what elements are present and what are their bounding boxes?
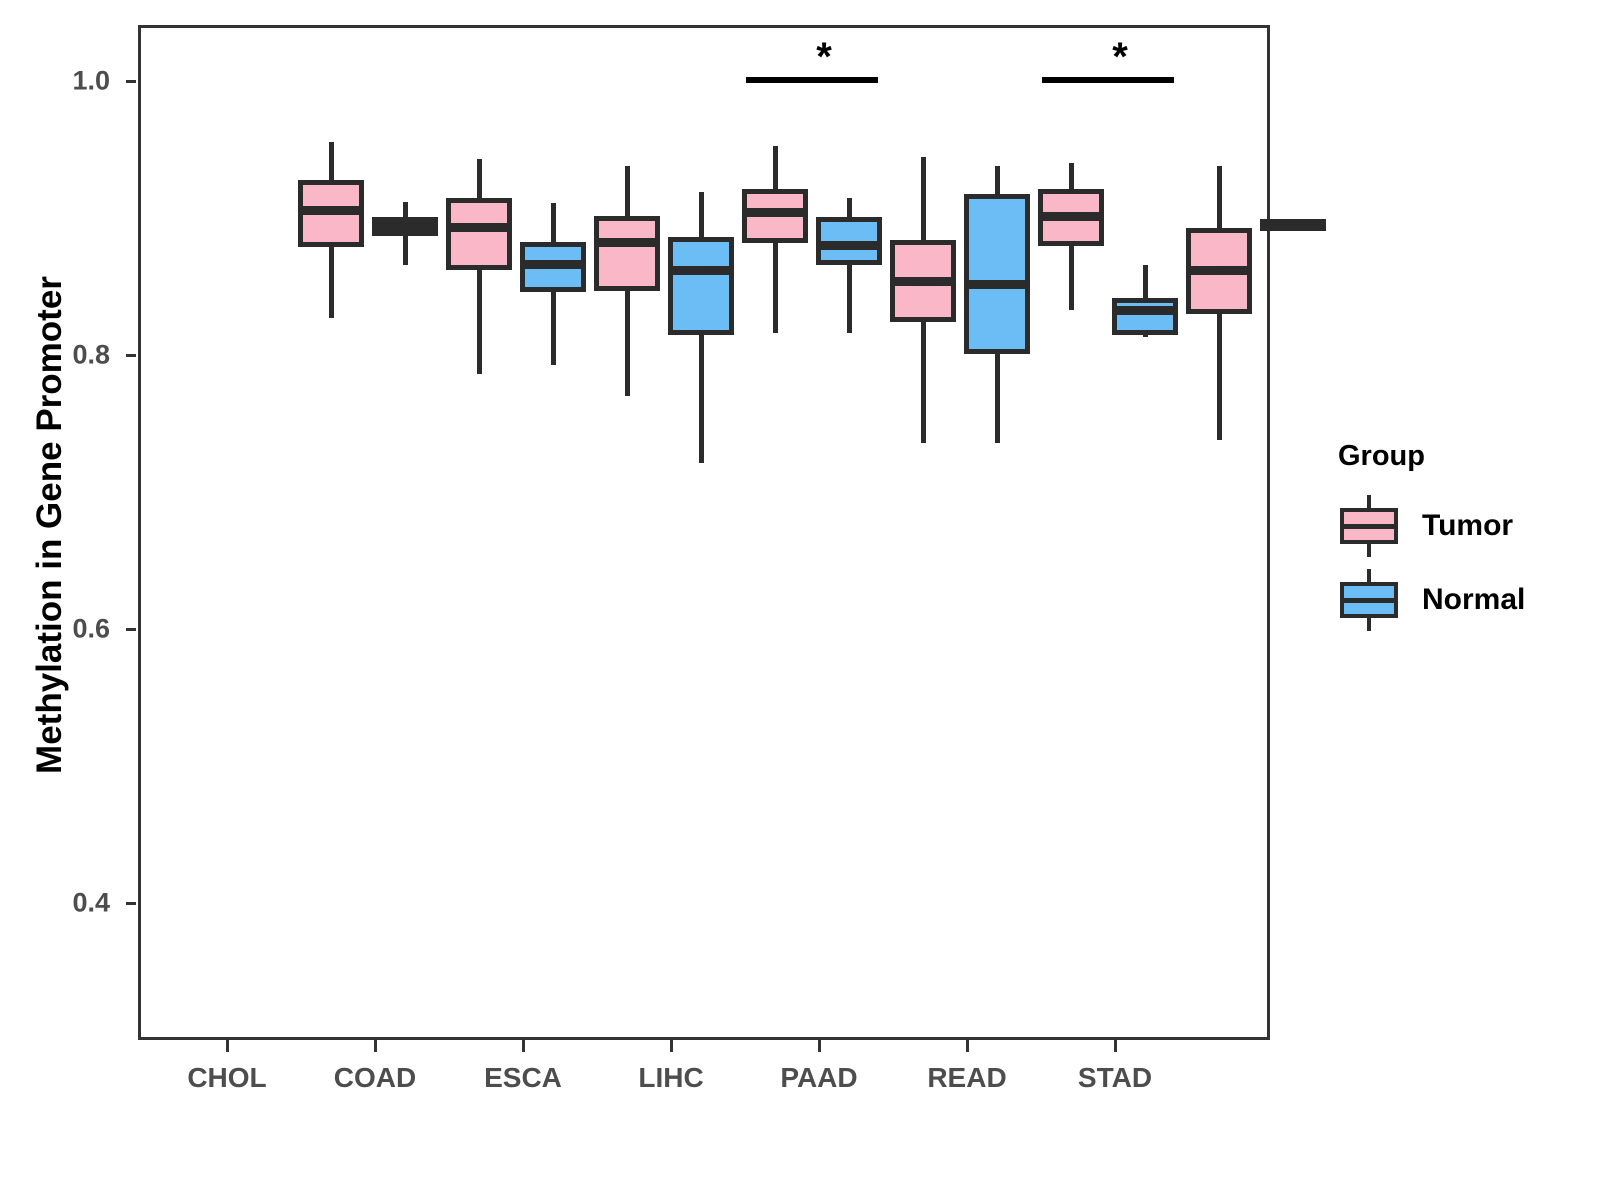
significance-bar-read (1042, 77, 1174, 83)
x-tick-label-paad: PAAD (780, 1062, 857, 1094)
boxplot-stad-normal (141, 28, 1267, 1037)
x-tick-label-stad: STAD (1078, 1062, 1152, 1094)
x-tick-mark (374, 1040, 377, 1052)
legend-key-tumor (1338, 495, 1400, 557)
x-tick-label-chol: CHOL (187, 1062, 266, 1094)
y-tick-mark (126, 354, 136, 357)
legend-whisker-top (1367, 495, 1371, 509)
legend-title: Group (1338, 440, 1580, 473)
x-tick-label-lihc: LIHC (638, 1062, 703, 1094)
significance-star-read: * (1112, 37, 1128, 77)
legend-entry-normal[interactable]: Normal (1330, 569, 1580, 631)
x-tick-mark (966, 1040, 969, 1052)
chart-root: Methylation in Gene Promoter 0.40.60.81.… (0, 0, 1600, 1200)
y-tick-mark (126, 902, 136, 905)
significance-star-lihc: * (816, 37, 832, 77)
x-tick-mark (226, 1040, 229, 1052)
legend-entries: TumorNormal (1330, 495, 1580, 631)
x-tick-label-coad: COAD (334, 1062, 416, 1094)
legend-label: Tumor (1422, 509, 1513, 543)
x-tick-label-esca: ESCA (484, 1062, 562, 1094)
y-tick-mark (126, 628, 136, 631)
y-tick-label: 0.8 (0, 340, 110, 371)
significance-bar-lihc (746, 77, 878, 83)
x-tick-mark (670, 1040, 673, 1052)
x-tick-mark (818, 1040, 821, 1052)
y-tick-label: 0.4 (0, 888, 110, 919)
legend-median (1340, 524, 1398, 529)
legend-entry-tumor[interactable]: Tumor (1330, 495, 1580, 557)
y-axis-title: Methylation in Gene Promoter (30, 125, 70, 925)
x-tick-mark (522, 1040, 525, 1052)
plot-area: ** (141, 28, 1267, 1037)
y-tick-label: 1.0 (0, 66, 110, 97)
legend-key-normal (1338, 569, 1400, 631)
median-line (1260, 219, 1326, 228)
legend: Group TumorNormal (1330, 440, 1580, 643)
legend-label: Normal (1422, 583, 1525, 617)
legend-whisker-bottom (1367, 617, 1371, 631)
y-tick-label: 0.6 (0, 614, 110, 645)
legend-median (1340, 598, 1398, 603)
legend-whisker-bottom (1367, 543, 1371, 557)
x-tick-label-read: READ (927, 1062, 1006, 1094)
x-tick-mark (1114, 1040, 1117, 1052)
y-tick-mark (126, 80, 136, 83)
legend-whisker-top (1367, 569, 1371, 583)
plot-panel: ** (138, 25, 1270, 1040)
